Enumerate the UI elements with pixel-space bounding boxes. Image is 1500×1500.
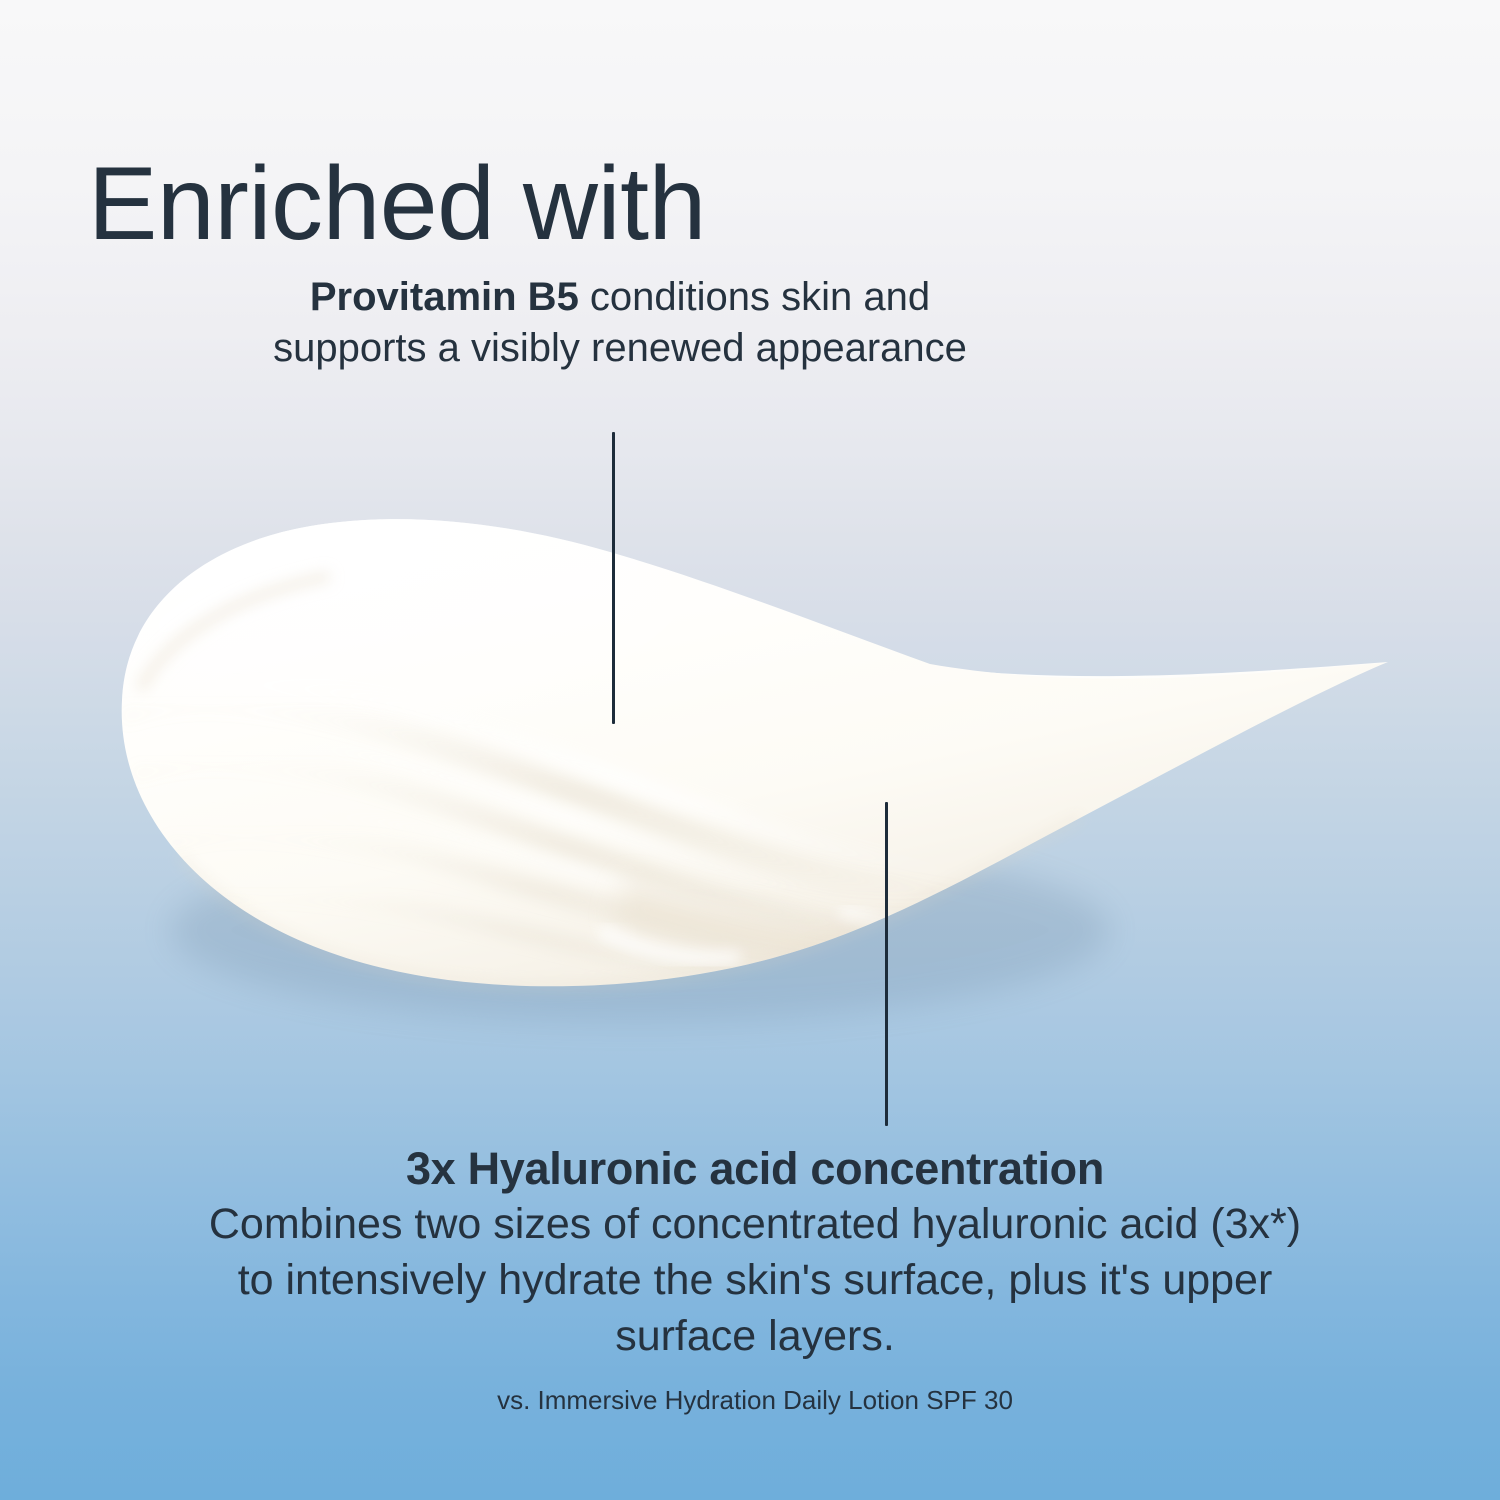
- cream-body: [122, 519, 1385, 986]
- callout-hyaluronic-acid-heading: 3x Hyaluronic acid concentration: [190, 1142, 1320, 1197]
- cream-tail: [860, 655, 1388, 846]
- callout-hyaluronic-acid-body: Combines two sizes of concentrated hyalu…: [209, 1200, 1301, 1360]
- callout-provitamin-b5-lead: Provitamin B5: [310, 275, 579, 319]
- product-feature-graphic: Enriched with Provitamin B5 conditions s…: [0, 0, 1500, 1500]
- leader-line-provitamin: [612, 432, 615, 724]
- callout-hyaluronic-acid: 3x Hyaluronic acid concentrationCombines…: [190, 1142, 1320, 1365]
- footnote: vs. Immersive Hydration Daily Lotion SPF…: [190, 1385, 1320, 1416]
- page-title: Enriched with: [88, 148, 706, 260]
- leader-line-hyaluronic: [885, 802, 888, 1126]
- callout-provitamin-b5: Provitamin B5 conditions skin and suppor…: [240, 272, 1000, 374]
